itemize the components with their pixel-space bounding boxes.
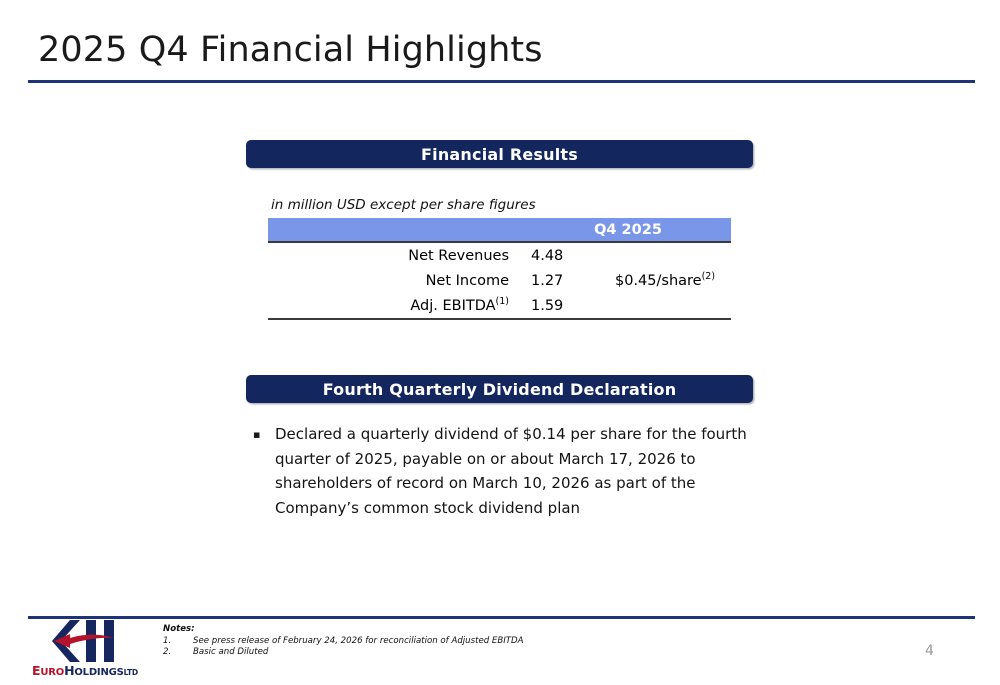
financial-table-body: Net Revenues4.48Net Income1.27$0.45/shar…	[268, 242, 731, 319]
table-cell-value: 1.27	[525, 268, 593, 293]
table-row: Adj. EBITDA(1)1.59	[268, 293, 731, 319]
table-header-q4-2025: Q4 2025	[525, 218, 731, 242]
logo-holdings-initial: H	[64, 663, 74, 678]
footnotes-rows: 1.See press release of February 24, 2026…	[163, 636, 524, 659]
footnote-row: 1.See press release of February 24, 2026…	[163, 636, 524, 648]
footnotes: Notes: 1.See press release of February 2…	[163, 624, 524, 659]
footnote-number: 1.	[163, 636, 193, 648]
table-cell-label: Net Income	[268, 268, 525, 293]
logo-euro-rest: URO	[40, 667, 64, 678]
footnotes-title: Notes:	[163, 624, 524, 636]
financial-results-table: Q4 2025 Net Revenues4.48Net Income1.27$0…	[268, 218, 731, 320]
footnote-row: 2.Basic and Diluted	[163, 647, 524, 659]
footnote-ref: (1)	[496, 296, 509, 307]
logo-ltd: LTD	[124, 668, 138, 677]
table-cell-extra	[593, 293, 731, 319]
table-row: Net Income1.27$0.45/share(2)	[268, 268, 731, 293]
logo-wordmark: EUROHOLDINGSLTD	[32, 663, 138, 678]
table-cell-extra: $0.45/share(2)	[593, 268, 731, 293]
dividend-bullet-list: ▪Declared a quarterly dividend of $0.14 …	[253, 422, 753, 520]
list-item-text: Declared a quarterly dividend of $0.14 p…	[275, 422, 753, 520]
logo-holdings-rest: OLDINGS	[74, 667, 123, 678]
footnote-ref: (2)	[702, 271, 715, 282]
table-cell-extra	[593, 242, 731, 268]
header-divider	[28, 80, 975, 83]
page-title: 2025 Q4 Financial Highlights	[38, 30, 543, 70]
table-cell-value: 4.48	[525, 242, 593, 268]
table-caption: in million USD except per share figures	[271, 197, 536, 213]
page-number: 4	[925, 643, 934, 659]
section-banner-financial-results: Financial Results	[246, 140, 753, 168]
section-banner-label: Fourth Quarterly Dividend Declaration	[323, 380, 677, 399]
footnote-text: See press release of February 24, 2026 f…	[193, 636, 524, 648]
bullet-square-icon: ▪	[253, 422, 275, 447]
footnote-number: 2.	[163, 647, 193, 659]
section-banner-dividend: Fourth Quarterly Dividend Declaration	[246, 375, 753, 403]
table-header-row: Q4 2025	[268, 218, 731, 242]
section-banner-label: Financial Results	[421, 145, 578, 164]
table-header-blank	[268, 218, 525, 242]
footnote-text: Basic and Diluted	[193, 647, 268, 659]
table-cell-value: 1.59	[525, 293, 593, 319]
company-logo: EUROHOLDINGSLTD	[32, 620, 150, 680]
list-item: ▪Declared a quarterly dividend of $0.14 …	[253, 422, 753, 520]
table-cell-label: Net Revenues	[268, 242, 525, 268]
table-cell-label: Adj. EBITDA(1)	[268, 293, 525, 319]
kh-monogram-icon	[50, 620, 122, 662]
footer-divider	[28, 616, 975, 619]
table-row: Net Revenues4.48	[268, 242, 731, 268]
